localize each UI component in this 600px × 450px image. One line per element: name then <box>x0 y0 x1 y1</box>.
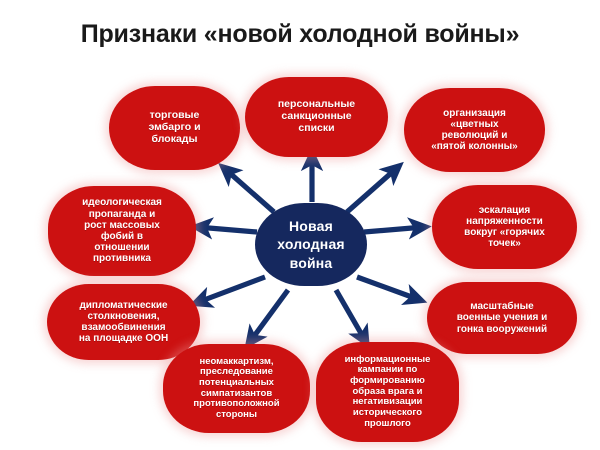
node-diplomatic-clashes-un[interactable]: дипломатические столкновения, взамообвин… <box>47 284 200 360</box>
node-information-campaigns[interactable]: информационные кампании по формированию … <box>316 342 459 442</box>
arrow-to-diplomatic-clashes-un <box>196 277 265 303</box>
arrow-to-trade-embargo <box>224 168 274 212</box>
infographic-canvas: Признаки «новой холодной войны» <box>0 0 600 450</box>
arrow-to-information-campaigns <box>336 290 366 342</box>
arrow-to-ideological-propaganda <box>197 227 257 232</box>
node-personal-sanction-lists[interactable]: персональные санкционные списки <box>245 77 388 157</box>
node-escalation-hot-spots[interactable]: эскалация напряженности вокруг «горячих … <box>432 185 577 269</box>
node-center-new-cold-war[interactable]: Новая холодная война <box>255 203 367 286</box>
node-color-revolutions[interactable]: организация «цветных революций и «пятой … <box>404 88 545 172</box>
node-military-exercises-arms-race[interactable]: масштабные военные учения и гонка вооруж… <box>427 282 577 354</box>
node-trade-embargo[interactable]: торговые эмбарго и блокады <box>109 86 240 170</box>
node-ideological-propaganda[interactable]: идеологическая пропаганда и рост массовы… <box>48 186 196 276</box>
arrow-to-neo-mccarthyism <box>249 290 288 343</box>
node-neo-mccarthyism[interactable]: неомаккартизм, преследование потенциальн… <box>163 344 310 433</box>
arrow-to-color-revolutions <box>347 167 398 212</box>
arrow-to-military-exercises <box>357 277 420 300</box>
arrow-to-escalation-hot-spots <box>364 227 424 232</box>
